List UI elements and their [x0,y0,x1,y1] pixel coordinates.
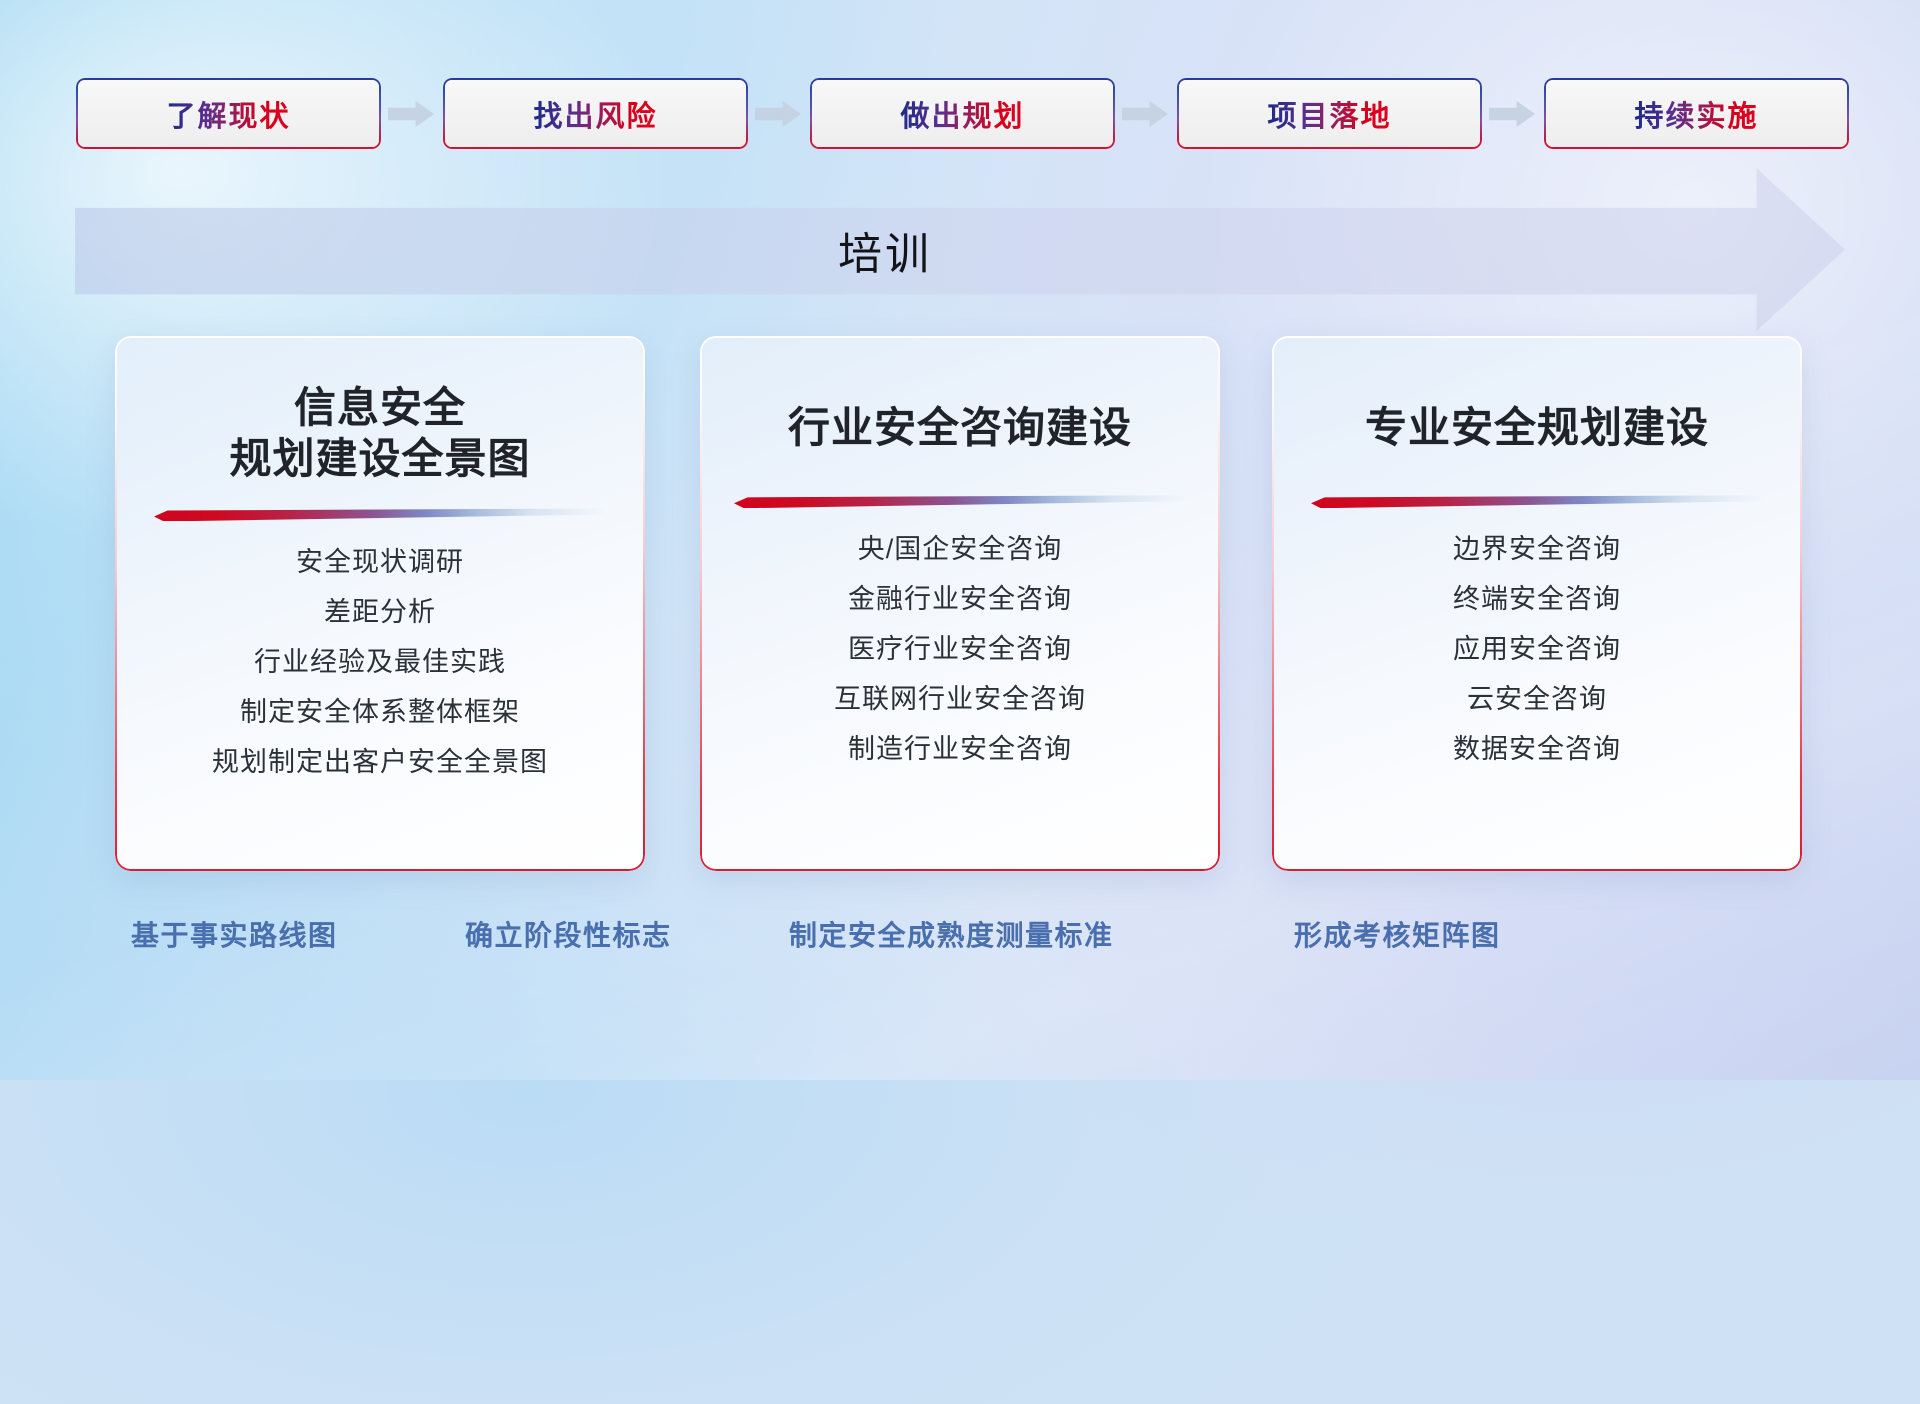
list-item: 金融行业安全咨询 [834,586,1086,613]
list-item: 终端安全咨询 [1453,586,1621,613]
card-3-item-list: 边界安全咨询 终端安全咨询 应用安全咨询 云安全咨询 数据安全咨询 [1453,536,1621,763]
list-item: 数据安全咨询 [1453,736,1621,763]
list-item: 行业经验及最佳实践 [212,649,548,676]
card-1-body: 信息安全 规划建设全景图 安全现状调研 差距分析 行业经验及最佳实践 制定安全体… [115,336,645,871]
card-2-divider [734,495,1186,508]
list-item: 医疗行业安全咨询 [834,636,1086,663]
list-item: 云安全咨询 [1453,686,1621,713]
card-1-divider [154,508,606,521]
footer-label-2: 确立阶段性标志 [465,914,672,954]
card-3-title: 专业安全规划建设 [1365,402,1709,453]
list-item: 互联网行业安全咨询 [834,686,1086,713]
card-2-title: 行业安全咨询建设 [788,402,1132,453]
list-item: 边界安全咨询 [1453,536,1621,563]
card-professional-security-planning[interactable]: 专业安全规划建设 边界安全咨询 终端安全咨询 应用安全咨询 云安全咨询 数据安全… [1272,336,1802,871]
list-item: 制造行业安全咨询 [834,736,1086,763]
card-1-item-list: 安全现状调研 差距分析 行业经验及最佳实践 制定安全体系整体框架 规划制定出客户… [212,549,548,776]
footer-label-1: 基于事实路线图 [131,914,338,954]
card-industry-security-consulting[interactable]: 行业安全咨询建设 央/国企安全咨询 金融行业安全咨询 医疗行业安全咨询 互联网行… [700,336,1220,871]
list-item: 应用安全咨询 [1453,636,1621,663]
card-1-title: 信息安全 规划建设全景图 [229,382,530,484]
list-item: 制定安全体系整体框架 [212,699,548,726]
card-2-body: 行业安全咨询建设 央/国企安全咨询 金融行业安全咨询 医疗行业安全咨询 互联网行… [700,336,1220,871]
card-information-security-blueprint[interactable]: 信息安全 规划建设全景图 安全现状调研 差距分析 行业经验及最佳实践 制定安全体… [115,336,645,871]
footer-label-4: 形成考核矩阵图 [1294,914,1501,954]
list-item: 央/国企安全咨询 [834,536,1086,563]
card-3-body: 专业安全规划建设 边界安全咨询 终端安全咨询 应用安全咨询 云安全咨询 数据安全… [1272,336,1802,871]
card-3-divider [1311,495,1763,508]
footer-label-3: 制定安全成熟度测量标准 [789,914,1114,954]
card-2-item-list: 央/国企安全咨询 金融行业安全咨询 医疗行业安全咨询 互联网行业安全咨询 制造行… [834,536,1086,763]
list-item: 安全现状调研 [212,549,548,576]
list-item: 差距分析 [212,599,548,626]
list-item: 规划制定出客户安全全景图 [212,749,548,776]
